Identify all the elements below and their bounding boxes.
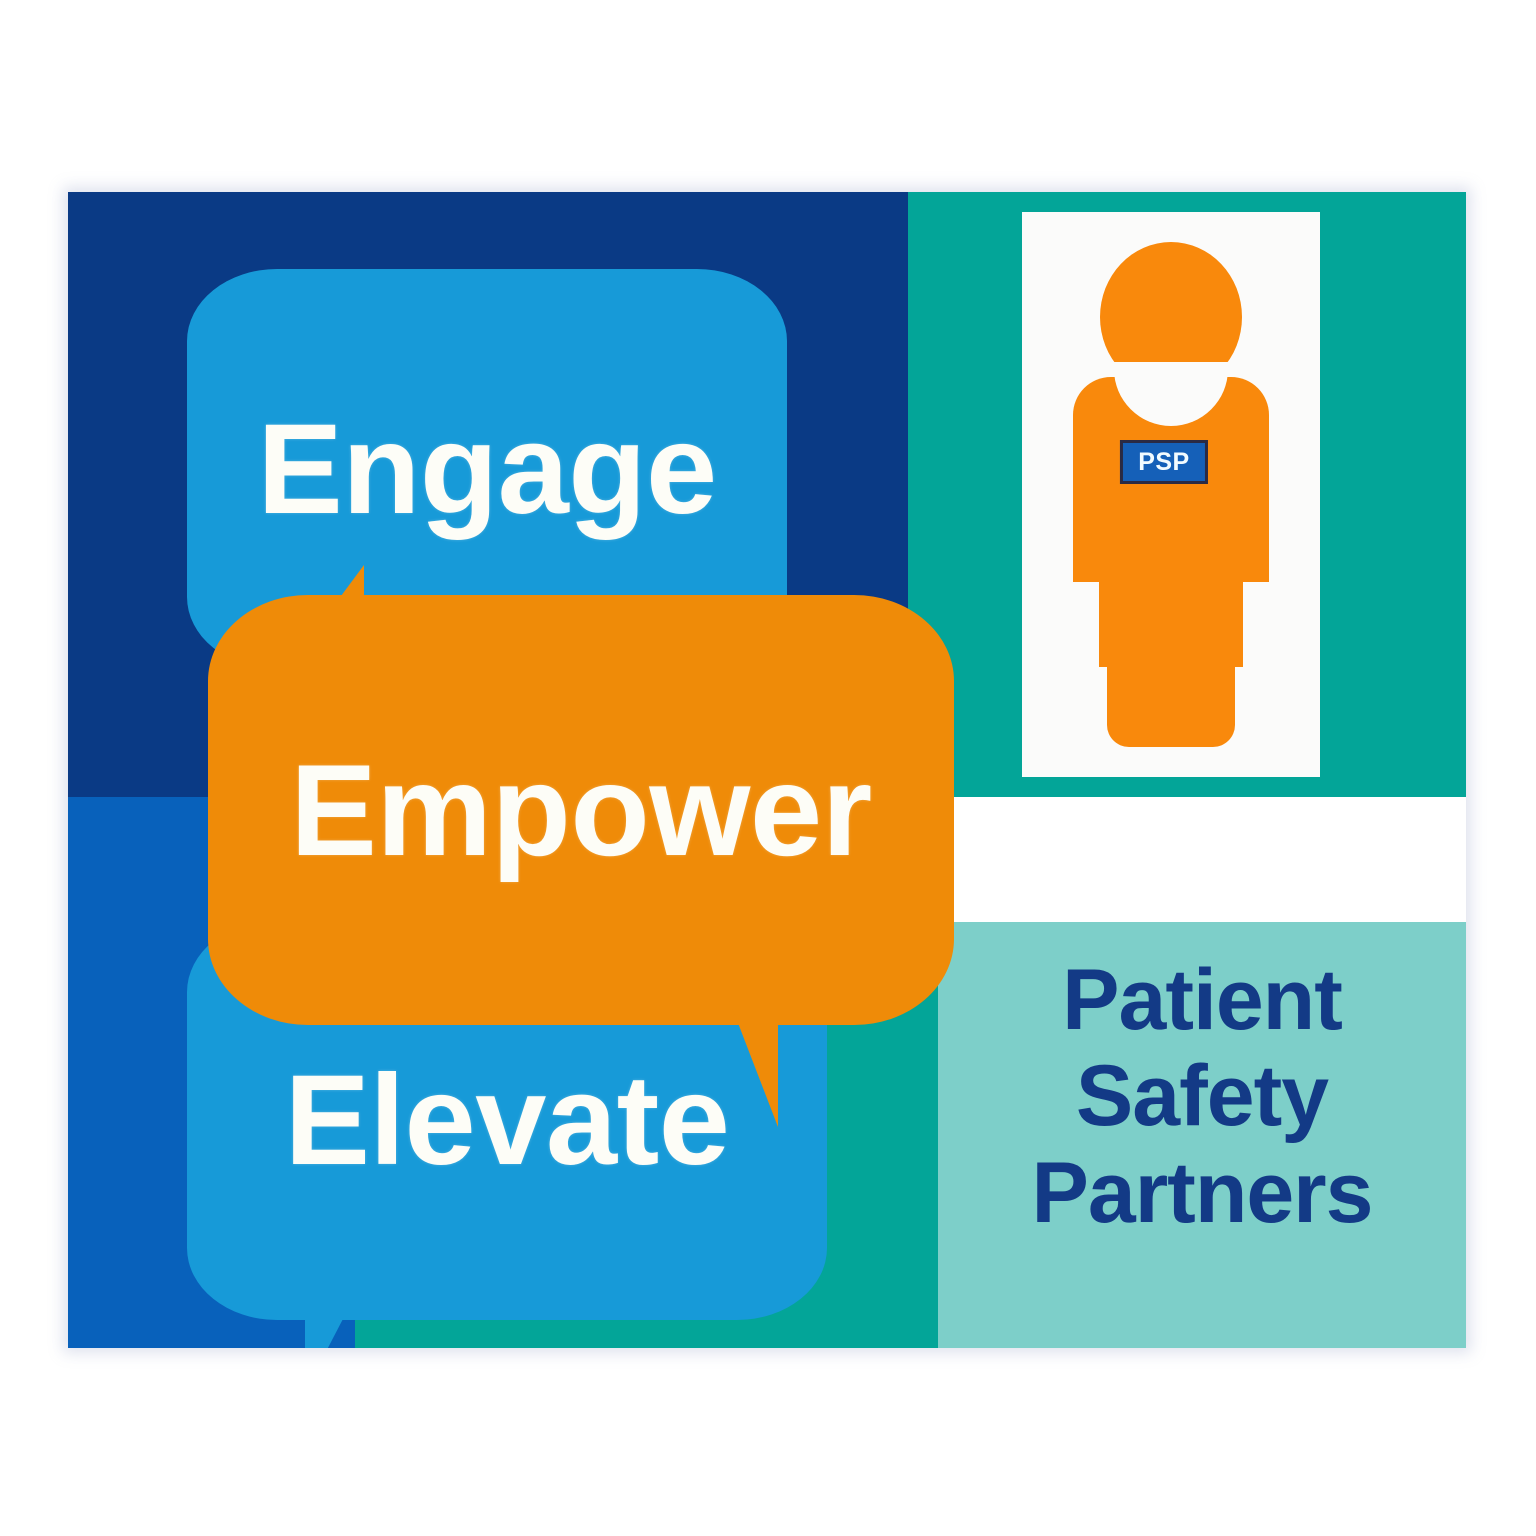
poster-stage: Engage Elevate Empower PSP [0, 0, 1536, 1536]
wordmark-line-3: Partners [938, 1145, 1466, 1241]
speech-bubble-elevate-tail [305, 1292, 357, 1348]
wordmark-line-1: Patient [938, 952, 1466, 1048]
speech-bubble-empower: Empower [208, 595, 954, 1025]
speech-bubble-engage-label: Engage [257, 396, 716, 543]
speech-bubble-empower-label: Empower [290, 735, 872, 885]
person-icon-arm-gap-left [1073, 582, 1099, 672]
speech-bubble-elevate-label: Elevate [285, 1047, 730, 1194]
wordmark: Patient Safety Partners [938, 952, 1466, 1241]
person-icon-legs [1107, 592, 1235, 747]
background-block-white-band [908, 797, 1466, 922]
poster-card: Engage Elevate Empower PSP [68, 192, 1466, 1348]
psp-name-badge-label: PSP [1138, 448, 1190, 477]
person-icon-card: PSP [1022, 212, 1320, 777]
speech-bubble-empower-tail [728, 997, 778, 1127]
speech-bubble-empower-tail-upper [318, 565, 364, 627]
wordmark-line-2: Safety [938, 1048, 1466, 1144]
person-icon-arm-gap-right [1243, 582, 1269, 672]
psp-name-badge: PSP [1120, 440, 1208, 484]
